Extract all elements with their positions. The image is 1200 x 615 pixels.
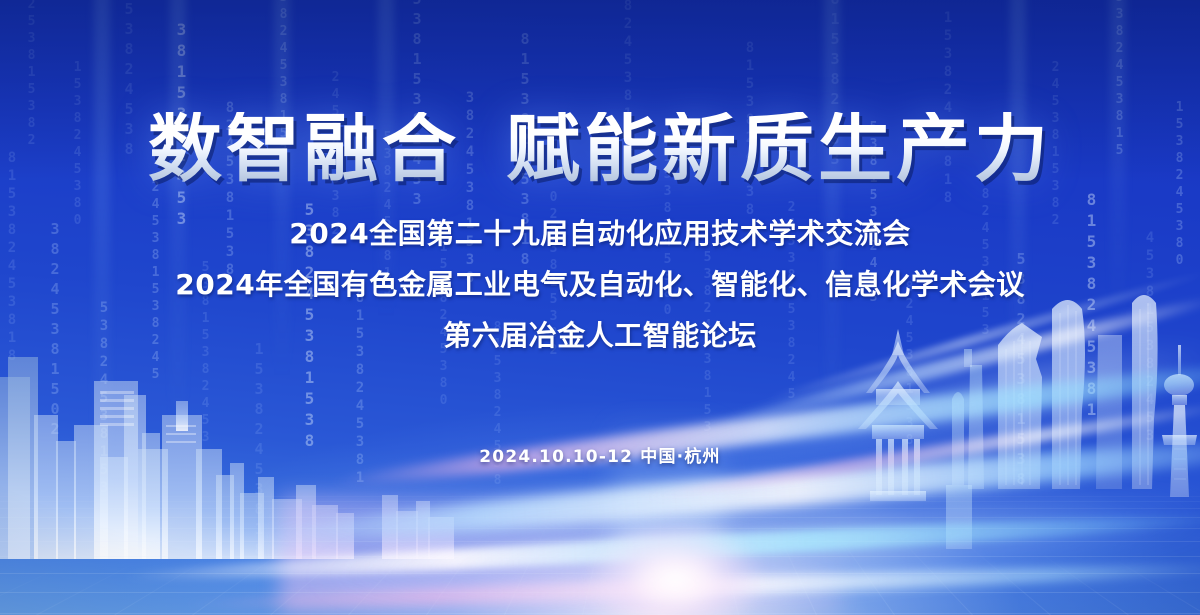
banner-content: 数智融合赋能新质生产力 2024全国第二十九届自动化应用技术学术交流会 2024… — [0, 0, 1200, 467]
main-title: 数智融合赋能新质生产力 — [0, 112, 1200, 186]
main-title-part1: 数智融合 — [148, 106, 460, 192]
center-light-burst — [560, 505, 790, 615]
subtitle-line-3: 第六届冶金人工智能论坛 — [0, 314, 1200, 354]
main-title-part2: 赋能新质生产力 — [506, 106, 1052, 192]
conference-banner: 8153824538180253815382382453815021538245… — [0, 0, 1200, 615]
grid-line-vertical — [0, 563, 67, 615]
subtitle-line-1: 2024全国第二十九届自动化应用技术学术交流会 — [0, 212, 1200, 252]
date-location-line: 2024.10.10-12 中国·杭州 — [0, 442, 1200, 467]
subtitle-line-2: 2024年全国有色金属工业电气及自动化、智能化、信息化学术会议 — [0, 263, 1200, 303]
